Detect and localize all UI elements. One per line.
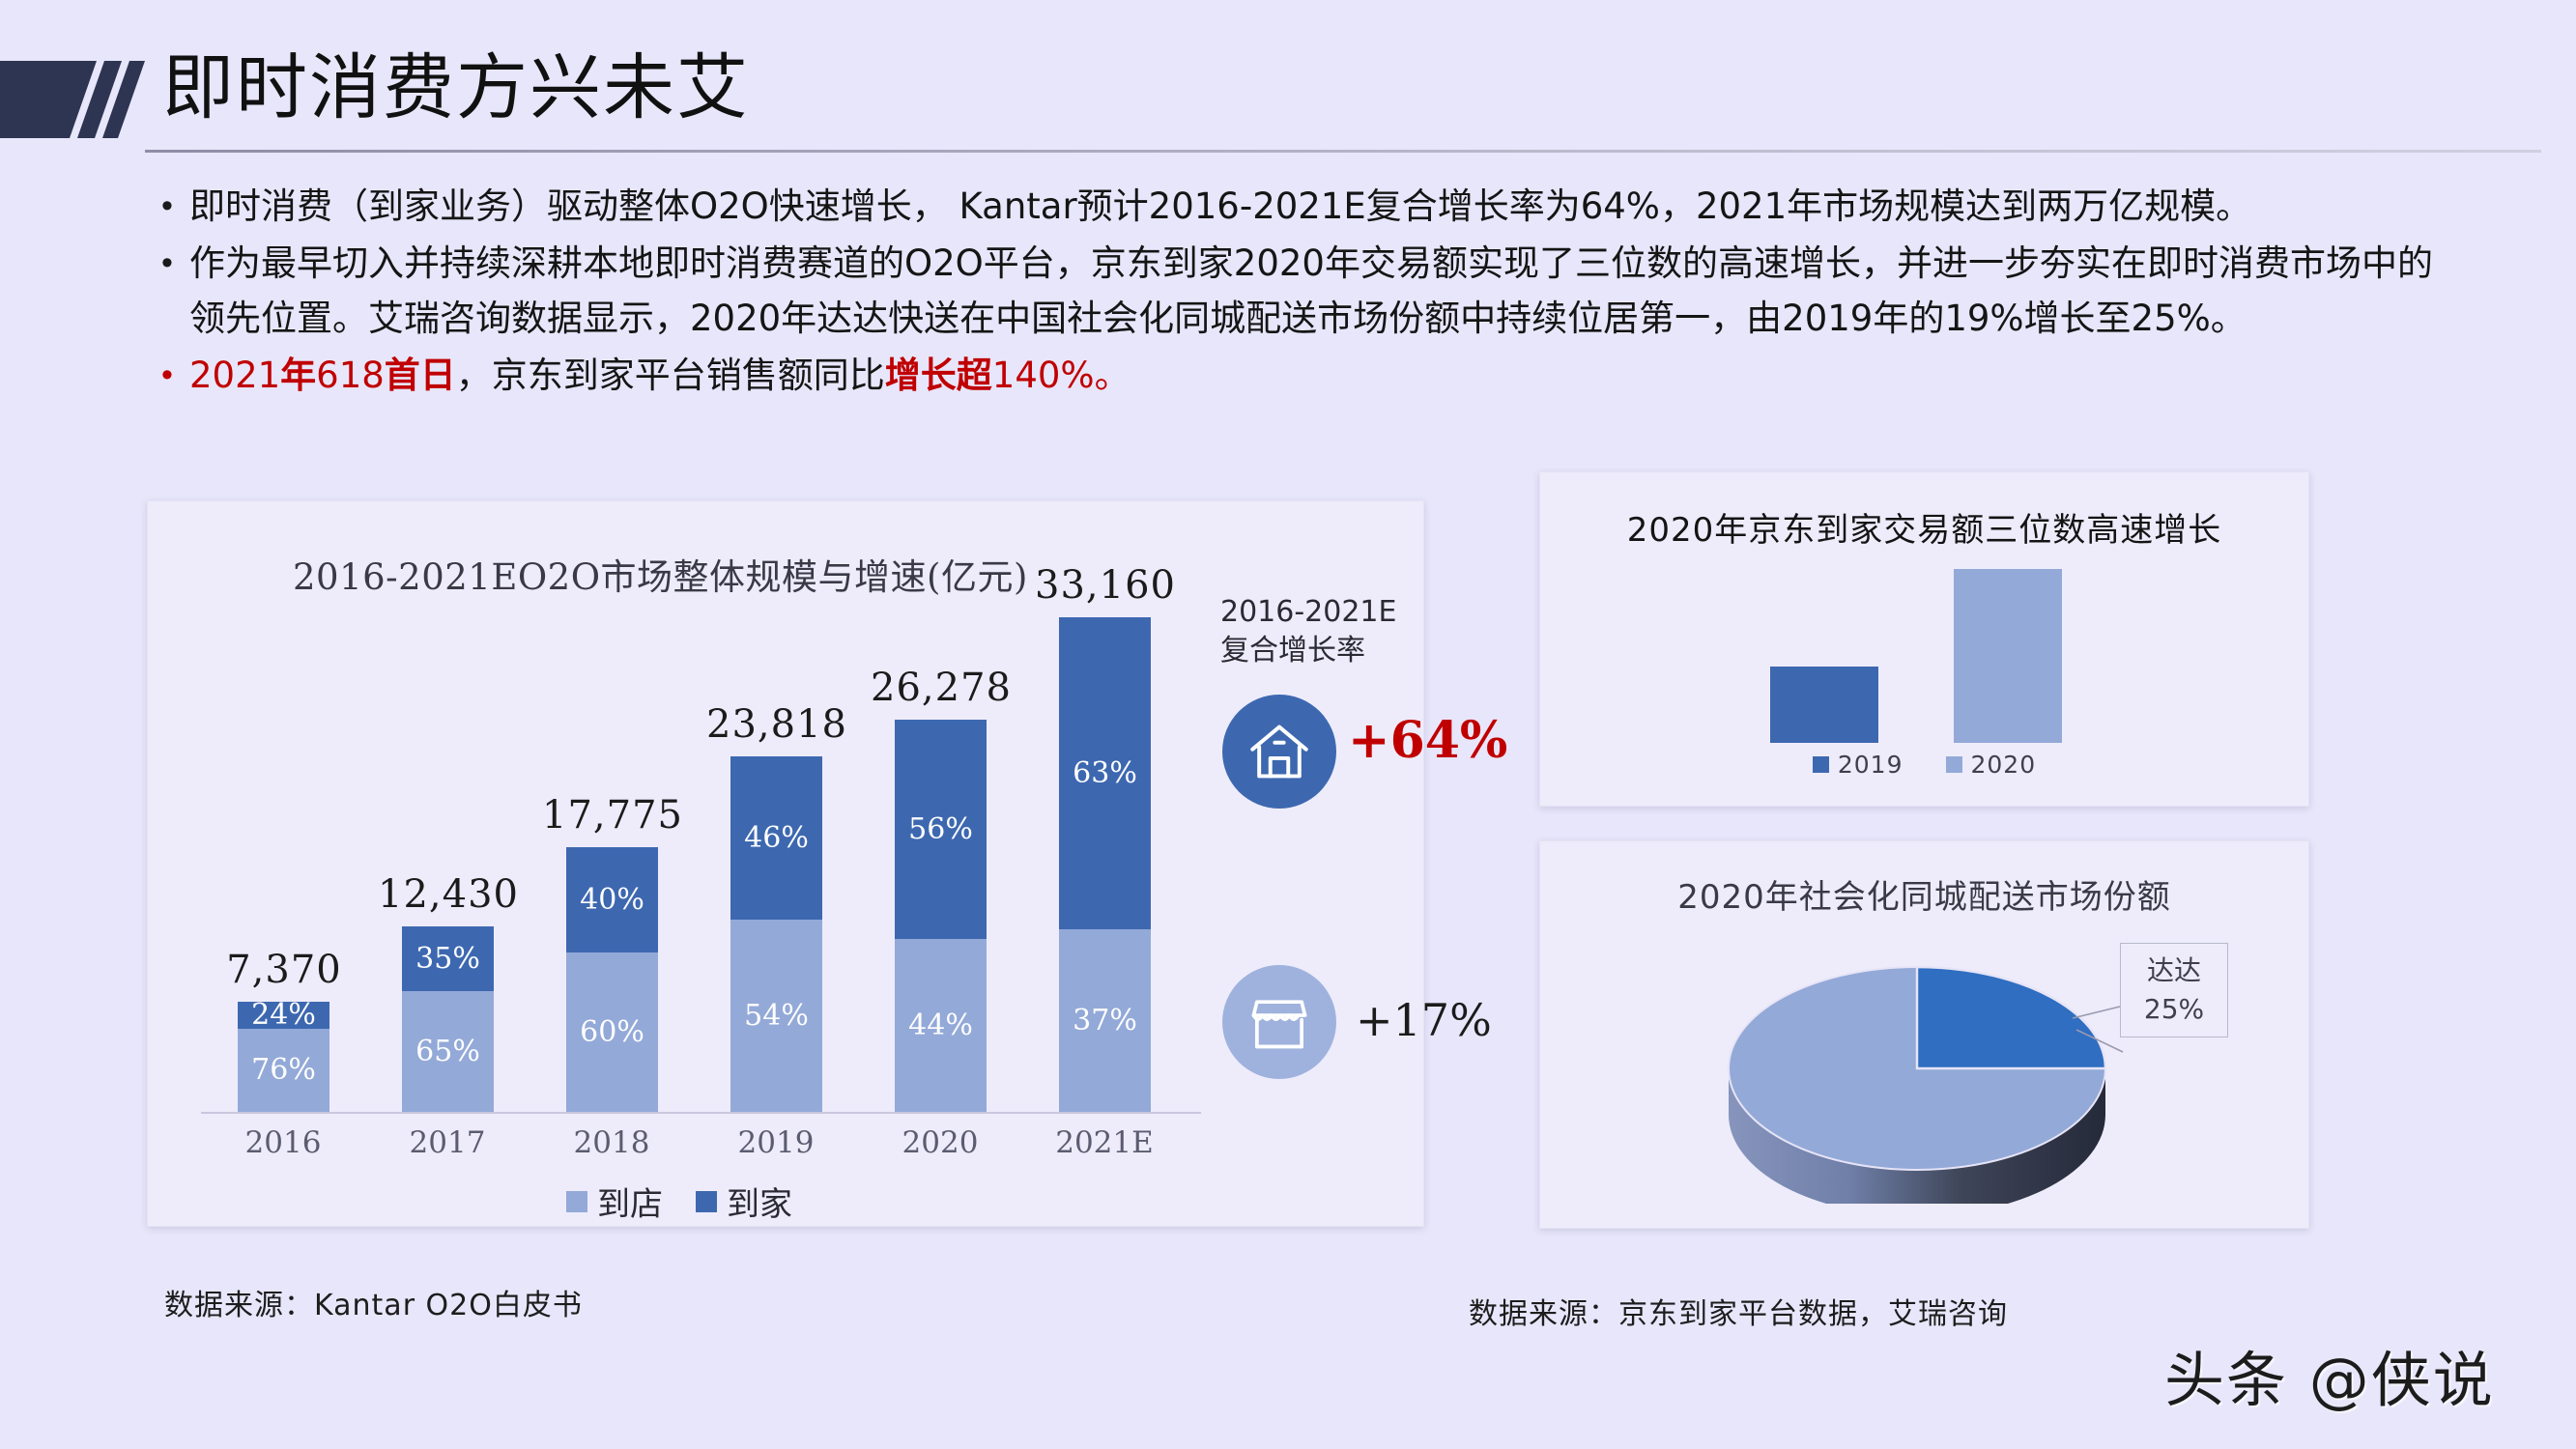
- bar-segment-daodian: 37%: [1059, 929, 1151, 1112]
- chart-panel-delivery-share: 2020年社会化同城配送市场份额 达达 25%: [1539, 840, 2309, 1229]
- pie-svg: [1709, 923, 2125, 1204]
- chart-legend-o2o: 到店到家: [148, 1178, 1211, 1225]
- x-tick-2021E: 2021E: [1017, 1125, 1191, 1160]
- legend-label: 到店: [597, 1178, 663, 1225]
- cagr-store-value: +17%: [1356, 994, 1492, 1046]
- bullet-list: • 即时消费（到家业务）驱动整体O2O快速增长， Kantar预计2016-20…: [145, 179, 2464, 405]
- title-divider: [145, 150, 2541, 153]
- legend-swatch-icon: [566, 1191, 587, 1212]
- storefront-icon: [1222, 965, 1336, 1079]
- chart-panel-o2o-market: 2016-2021EO2O市场整体规模与增速(亿元) 7,37024%76%12…: [147, 500, 1424, 1227]
- bar-total-label: 7,370: [158, 948, 410, 992]
- cagr-caption-line-2: 复合增长率: [1220, 632, 1428, 670]
- pie-callout-dada: 达达 25%: [2120, 943, 2228, 1037]
- bar-segment-label: 54%: [744, 999, 809, 1033]
- bar-2020: [1954, 569, 2062, 743]
- chevron-decoration-icon: [0, 53, 145, 140]
- bullet-marker: •: [145, 179, 189, 234]
- bullet-marker: •: [145, 236, 189, 291]
- bar-column: 17,77540%60%: [566, 617, 658, 1112]
- chart-legend-jd-gmv: 20192020: [1540, 751, 2308, 779]
- cagr-caption-line-1: 2016-2021E: [1220, 593, 1428, 632]
- bar-segment-label: 56%: [908, 812, 973, 846]
- bar-segment-label: 76%: [251, 1053, 316, 1087]
- bar-segment-daojia: 40%: [566, 847, 658, 953]
- bar-column: 26,27856%44%: [895, 617, 987, 1112]
- bar-segment-label: 24%: [251, 998, 316, 1032]
- bullet-marker: •: [145, 348, 189, 403]
- bullet-run: ，京东到家平台销售额同比: [456, 355, 885, 396]
- cagr-caption: 2016-2021E复合增长率: [1220, 593, 1428, 670]
- bullet-run: 作为最早切入并持续深耕本地即时消费赛道的O2O平台，京东到家2020年交易额实现…: [189, 242, 2433, 339]
- chart-panel-jd-gmv: 2020年京东到家交易额三位数高速增长 20192020: [1539, 471, 2309, 807]
- bar-segment-label: 44%: [908, 1009, 973, 1042]
- legend-swatch-icon: [1946, 756, 1962, 773]
- bullet-item: • 即时消费（到家业务）驱动整体O2O快速增长， Kantar预计2016-20…: [145, 179, 2464, 234]
- bar-segment-label: 35%: [415, 942, 480, 976]
- bar-segment-daodian: 54%: [730, 920, 822, 1112]
- bullet-run: 140%。: [992, 355, 1131, 396]
- bar-segment-label: 60%: [580, 1015, 644, 1049]
- chart-title-jd-gmv: 2020年京东到家交易额三位数高速增长: [1540, 503, 2308, 551]
- legend-item-到家: 到家: [696, 1178, 792, 1225]
- x-tick-2018: 2018: [525, 1125, 699, 1160]
- legend-swatch-icon: [696, 1191, 717, 1212]
- bullet-run: 年: [280, 355, 316, 396]
- bar-column: 33,16063%37%: [1059, 617, 1151, 1112]
- bullet-text-2: 作为最早切入并持续深耕本地即时消费赛道的O2O平台，京东到家2020年交易额实现…: [189, 236, 2464, 346]
- bar-segment-label: 63%: [1073, 756, 1137, 790]
- bar-total-label: 33,160: [980, 563, 1231, 608]
- x-tick-2020: 2020: [853, 1125, 1027, 1160]
- x-tick-2019: 2019: [689, 1125, 863, 1160]
- bar-segment-daojia: 24%: [238, 1002, 329, 1028]
- bar-total-label: 17,775: [487, 793, 738, 838]
- x-tick-2017: 2017: [360, 1125, 534, 1160]
- bar-segment-daojia: 56%: [895, 720, 987, 939]
- legend-item-2019: 2019: [1813, 751, 1903, 779]
- bar-total-label: 26,278: [816, 666, 1067, 710]
- bullet-run: 首日: [385, 355, 456, 396]
- bar-segment-label: 40%: [580, 883, 644, 917]
- cagr-callout-group: 2016-2021E复合增长率 +64% +17%: [1220, 593, 1428, 670]
- x-tick-2016: 2016: [196, 1125, 370, 1160]
- watermark: 头条 @侠说: [2164, 1331, 2495, 1418]
- bar-segment-label: 65%: [415, 1035, 480, 1068]
- bar-column: 7,37024%76%: [238, 617, 329, 1112]
- bullet-run: 2021: [189, 355, 280, 396]
- x-axis-line: [201, 1112, 1201, 1114]
- bar-column: 12,43035%65%: [402, 617, 494, 1112]
- bar-total-label: 12,430: [323, 872, 574, 917]
- source-note-left: 数据来源：Kantar O2O白皮书: [164, 1281, 583, 1323]
- bar-segment-daojia: 46%: [730, 756, 822, 920]
- chart-title-delivery-share: 2020年社会化同城配送市场份额: [1540, 870, 2308, 918]
- bullet-run: 即时消费（到家业务）驱动整体O2O快速增长， Kantar预计2016-2021…: [189, 185, 2251, 227]
- bar-segment-daodian: 65%: [402, 991, 494, 1112]
- bullet-text-3: 2021年618首日，京东到家平台销售额同比增长超140%。: [189, 348, 2464, 403]
- o2o-bars-plot: 7,37024%76%12,43035%65%17,77540%60%23,81…: [201, 617, 1187, 1112]
- legend-item-2020: 2020: [1946, 751, 2037, 779]
- bullet-item: • 作为最早切入并持续深耕本地即时消费赛道的O2O平台，京东到家2020年交易额…: [145, 236, 2464, 346]
- bar-segment-label: 46%: [744, 821, 809, 855]
- pie-callout-name: 达达: [2147, 952, 2201, 990]
- bar-segment-daodian: 44%: [895, 939, 987, 1112]
- legend-label: 2020: [1971, 751, 2037, 779]
- bar-column: 23,81846%54%: [730, 617, 822, 1112]
- bar-segment-daojia: 35%: [402, 926, 494, 991]
- legend-swatch-icon: [1813, 756, 1829, 773]
- bullet-item: • 2021年618首日，京东到家平台销售额同比增长超140%。: [145, 348, 2464, 403]
- pie-callout-value: 25%: [2144, 990, 2204, 1029]
- legend-item-到店: 到店: [566, 1178, 663, 1225]
- bar-segment-daojia: 63%: [1059, 617, 1151, 929]
- bullet-text-1: 即时消费（到家业务）驱动整体O2O快速增长， Kantar预计2016-2021…: [189, 179, 2464, 234]
- house-icon: [1222, 695, 1336, 809]
- jd-gmv-bars-plot: [1733, 569, 2139, 743]
- chart-title-o2o: 2016-2021EO2O市场整体规模与增速(亿元): [293, 548, 1028, 600]
- pie-3d: [1709, 923, 2125, 1204]
- bar-segment-daodian: 60%: [566, 952, 658, 1112]
- bar-2019: [1770, 667, 1878, 743]
- bar-segment-label: 37%: [1073, 1004, 1137, 1037]
- bar-segment-daodian: 76%: [238, 1029, 329, 1112]
- slide-header: 即时消费方兴未艾: [0, 53, 2576, 155]
- page-title: 即时消费方兴未艾: [162, 42, 750, 134]
- source-note-right: 数据来源：京东到家平台数据，艾瑞咨询: [1469, 1290, 2008, 1332]
- bullet-run: 增长超: [885, 355, 992, 396]
- bullet-run: 618: [316, 355, 385, 396]
- legend-label: 到家: [727, 1178, 792, 1225]
- legend-label: 2019: [1838, 751, 1903, 779]
- cagr-home-value: +64%: [1348, 711, 1507, 770]
